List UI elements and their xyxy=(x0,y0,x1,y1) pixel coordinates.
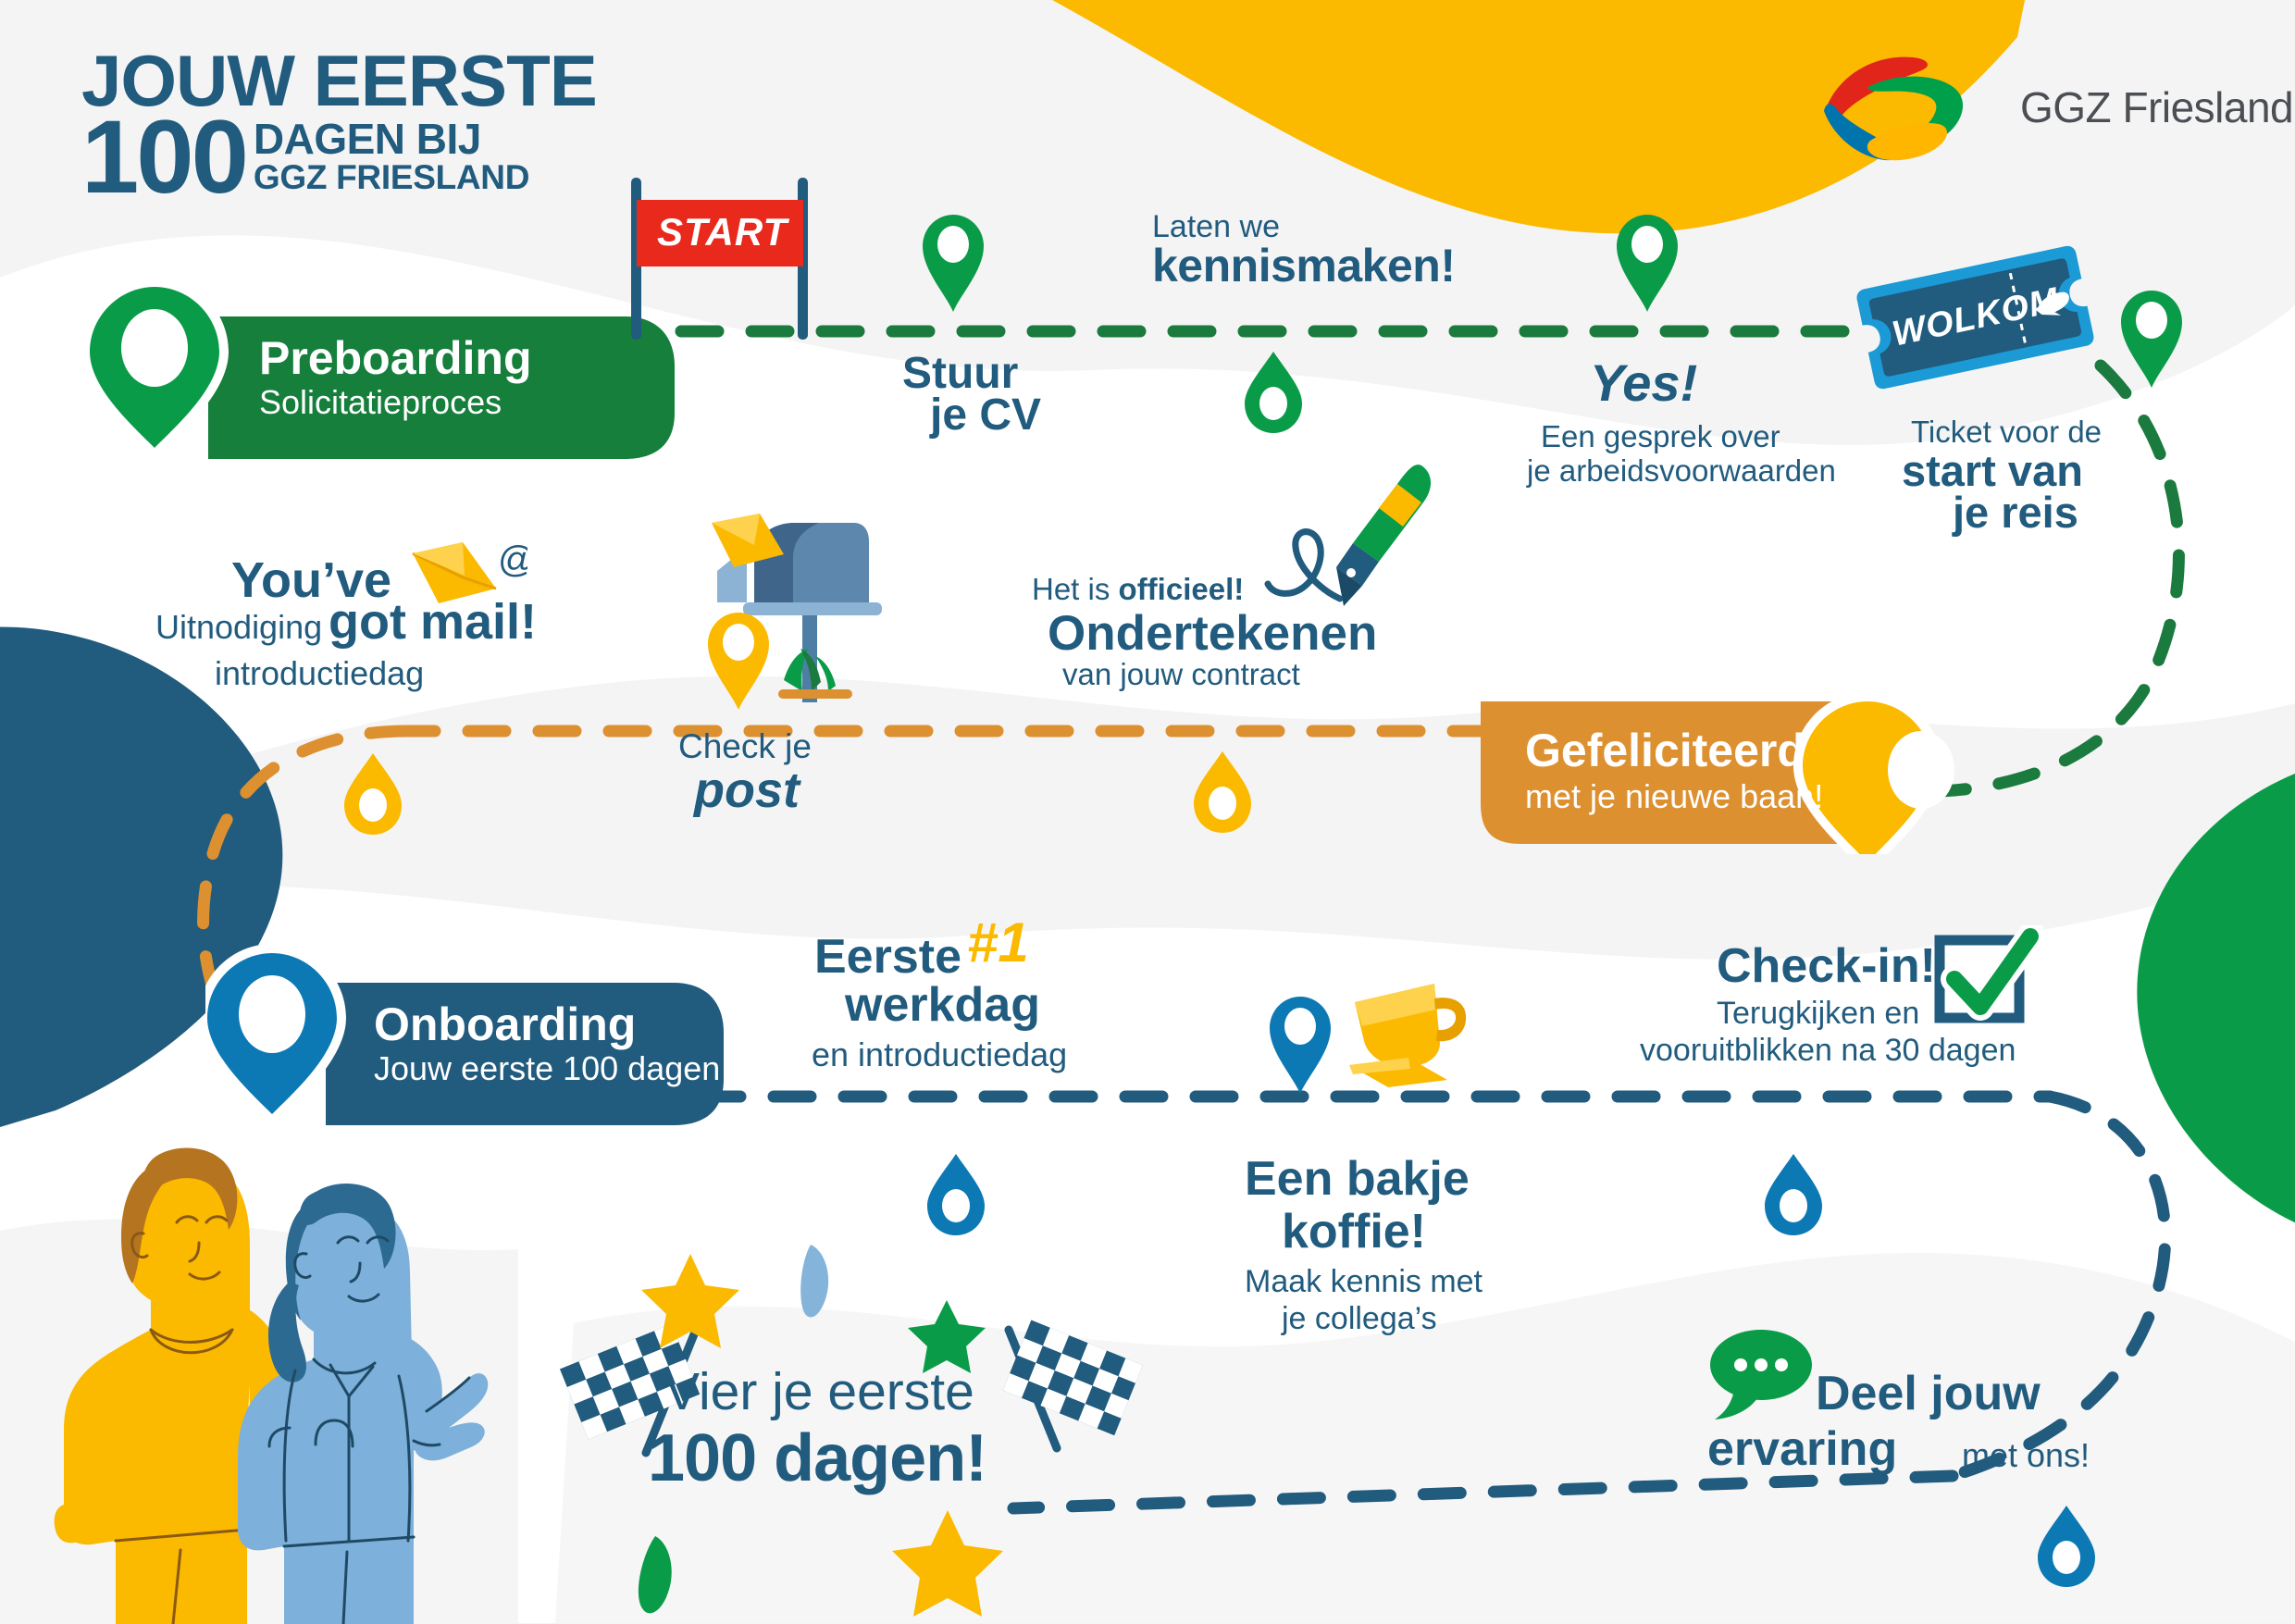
illustration-two-colleagues xyxy=(51,1134,495,1624)
character-blue xyxy=(238,1184,488,1624)
character-yellow xyxy=(55,1148,290,1624)
infographic-canvas: JOUW EERSTE 100 DAGEN BIJ GGZ FRIESLAND … xyxy=(0,0,2295,1623)
